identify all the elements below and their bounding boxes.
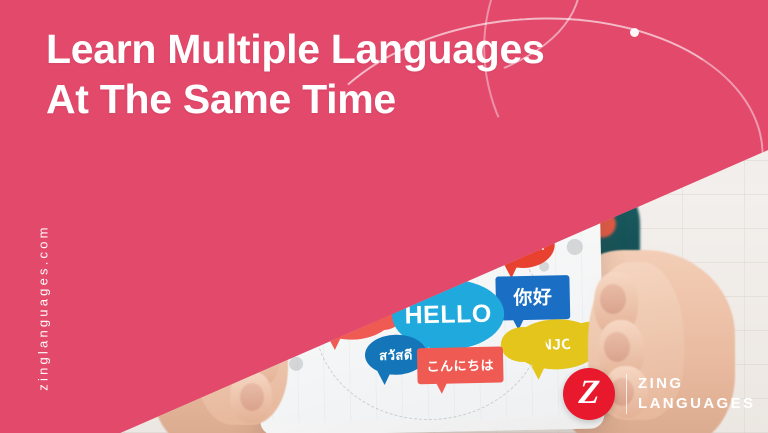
speech-bubble-label: BONJOUR xyxy=(517,336,592,353)
decorative-dot xyxy=(289,357,303,371)
speech-bubble-label: สวัสดี xyxy=(379,348,413,362)
speech-bubble-tail xyxy=(378,371,392,385)
decorative-dot xyxy=(567,239,583,255)
speech-bubble-tail xyxy=(435,380,449,394)
zing-logo-icon: Z xyxy=(563,368,615,420)
promo-banner: 여보세요CIAOHOLA你好HALLOHELLOBONJOURสวัสดีこんに… xyxy=(0,0,768,433)
speech-bubble-french[interactable]: BONJOUR xyxy=(512,318,592,370)
speech-bubble-label: こんにちは xyxy=(426,358,494,372)
brand-name: ZING LANGUAGES xyxy=(638,374,755,415)
brand-logo[interactable]: Z ZING LANGUAGES xyxy=(563,368,755,420)
headline-line-2: At The Same Time xyxy=(46,74,666,124)
speech-bubble-tail xyxy=(531,366,545,380)
logo-divider xyxy=(626,374,627,414)
headline-line-1: Learn Multiple Languages xyxy=(46,24,666,74)
page-title: Learn Multiple Languages At The Same Tim… xyxy=(46,24,666,124)
logo-letter: Z xyxy=(577,376,600,410)
brand-name-line-1: ZING xyxy=(638,374,755,394)
speech-bubble-label: 你好 xyxy=(513,288,552,308)
speech-bubble-chinese[interactable]: 你好 xyxy=(495,275,570,321)
speech-bubble-label: HELLO xyxy=(404,301,492,328)
site-url-vertical: zinglanguages.com xyxy=(36,193,51,423)
brand-name-line-2: LANGUAGES xyxy=(638,394,755,414)
speech-bubble-japanese[interactable]: こんにちは xyxy=(417,346,504,384)
